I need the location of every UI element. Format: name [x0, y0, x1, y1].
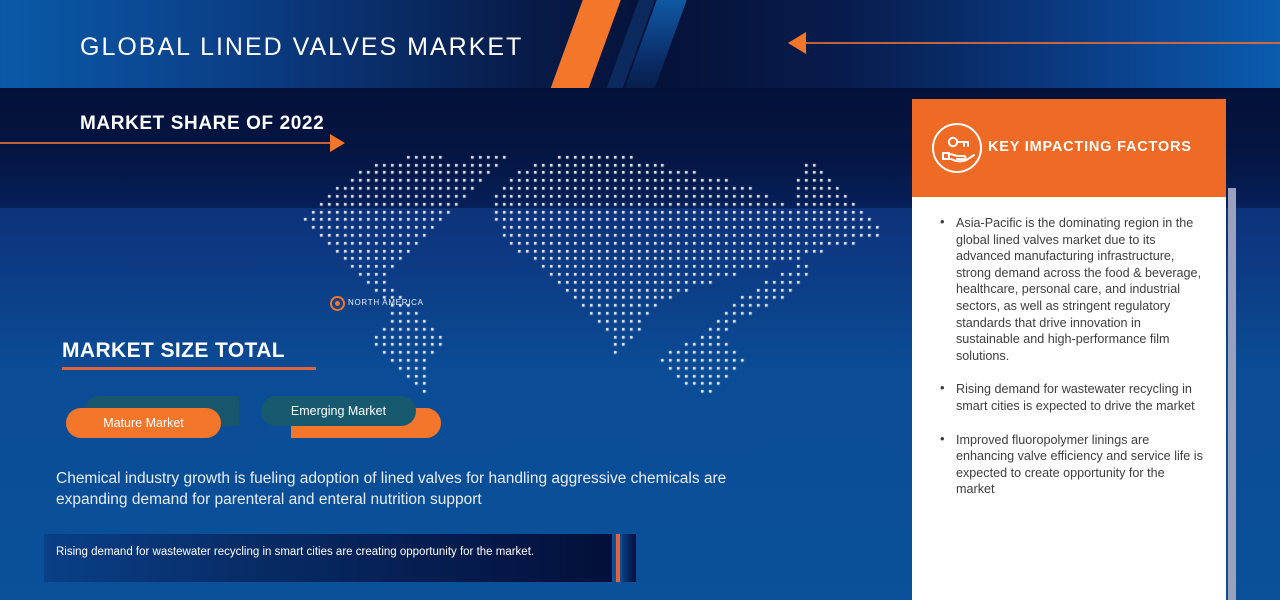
infographic-slide: GLOBAL LINED VALVES MARKET MARKET SHARE … [0, 0, 1280, 600]
pill-label: Emerging Market [261, 396, 416, 426]
pill-mature-market[interactable]: Mature Market [66, 396, 241, 438]
hand-holding-key-icon [930, 121, 984, 175]
panel-title: KEY IMPACTING FACTORS [988, 139, 1192, 155]
banner-accent-bar [616, 534, 620, 582]
bottom-banner-text: Rising demand for wastewater recycling i… [56, 544, 601, 560]
pill-emerging-market[interactable]: Emerging Market [261, 396, 441, 438]
bottom-banner: Rising demand for wastewater recycling i… [44, 534, 612, 582]
market-size-underline [62, 367, 316, 370]
map-marker-label: NORTH AMERICA [348, 298, 424, 307]
list-item: Improved fluoropolymer linings are enhan… [934, 432, 1206, 498]
market-share-rule [0, 142, 330, 144]
panel-header: KEY IMPACTING FACTORS [912, 99, 1226, 197]
list-item: Asia-Pacific is the dominating region in… [934, 215, 1206, 364]
key-impacting-factors-panel: KEY IMPACTING FACTORS Asia-Pacific is th… [912, 99, 1226, 600]
panel-shadow [1228, 188, 1236, 600]
location-ring-icon [330, 296, 345, 311]
body-paragraph: Chemical industry growth is fueling adop… [56, 468, 756, 510]
panel-body: Asia-Pacific is the dominating region in… [912, 197, 1226, 600]
factors-list: Asia-Pacific is the dominating region in… [934, 215, 1206, 515]
header-bar: GLOBAL LINED VALVES MARKET [0, 0, 1280, 88]
header-arrow-line [806, 42, 1280, 44]
page-title: GLOBAL LINED VALVES MARKET [80, 33, 523, 62]
banner-tail [622, 534, 636, 582]
world-map [272, 148, 892, 398]
list-item: Rising demand for wastewater recycling i… [934, 381, 1206, 414]
pill-label: Mature Market [66, 408, 221, 438]
market-share-label: MARKET SHARE OF 2022 [80, 113, 324, 135]
market-size-title: MARKET SIZE TOTAL [62, 339, 285, 363]
arrow-left-icon [788, 32, 806, 54]
